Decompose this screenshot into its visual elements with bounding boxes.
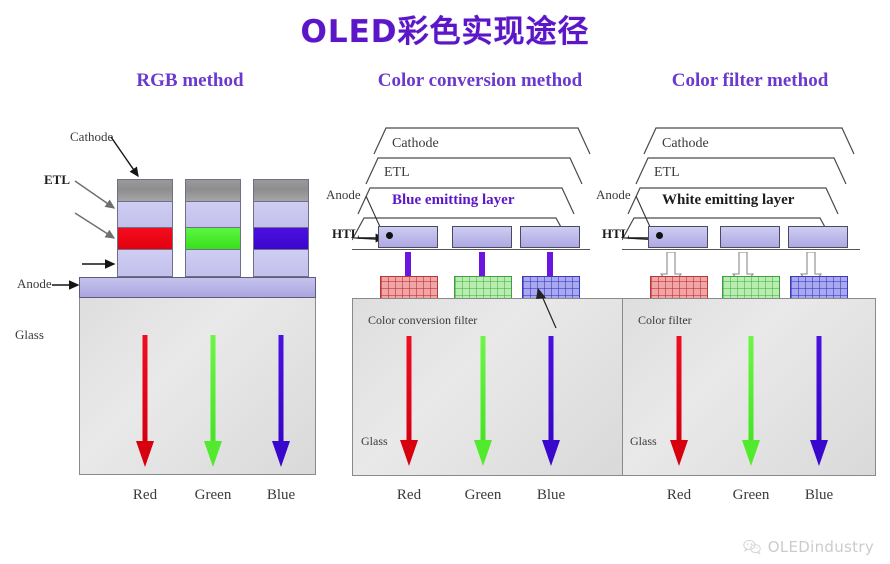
cf-output-label-green: Green [716,487,786,504]
cc-htl-label: HTL [332,226,359,242]
cc-anode-contact-dot [386,232,393,239]
cc-emitting-layer-label: Blue emitting layer [392,192,514,209]
cc-emission-arrow-red [394,336,424,466]
rgb-emission-arrow-blue [266,335,296,467]
rgb-stack-red [117,179,173,277]
rgb-output-label-red: Red [110,487,180,504]
rgb-blue-htl-layer [253,249,309,277]
cc-output-label-red: Red [374,487,444,504]
rgb-green-etl-layer [185,201,241,227]
rgb-red-etl-layer [117,201,173,227]
cf-filter-caption: Color filter [638,313,692,328]
rgb-emission-arrow-red [130,335,160,467]
rgb-blue-emitting-layer [253,227,309,249]
cc-cathode-label: Cathode [392,136,439,152]
cf-cathode-label: Cathode [662,136,709,152]
cf-htl-bar-green [720,226,780,248]
cf-emission-arrow-blue [804,336,834,466]
rgb-etl-label: ETL [44,172,70,188]
rgb-stack-blue [253,179,309,277]
cc-substrate-baseline [352,249,590,250]
watermark: OLEDindustry [743,538,874,556]
cc-emission-arrow-blue [536,336,566,466]
cf-emitting-layer-label: White emitting layer [662,192,794,209]
rgb-glass-label: Glass [15,327,44,343]
rgb-red-cathode-layer [117,179,173,201]
rgb-green-cathode-layer [185,179,241,201]
diagram-canvas: OLED彩色实现途径 RGB method Color conversion m… [0,0,890,564]
cc-output-label-blue: Blue [516,487,586,504]
rgb-stack-green [185,179,241,277]
rgb-anode-label: Anode [17,276,52,292]
cf-etl-label: ETL [654,165,680,181]
rgb-green-emitting-layer [185,227,241,249]
rgb-red-emitting-layer [117,227,173,249]
cf-anode-label: Anode [596,187,631,203]
cc-etl-label: ETL [384,165,410,181]
cc-htl-bar-green [452,226,512,248]
watermark-text: OLEDindustry [768,538,874,556]
cc-output-label-green: Green [448,487,518,504]
cf-substrate-baseline [622,249,860,250]
rgb-blue-cathode-layer [253,179,309,201]
cc-htl-bar-blue [520,226,580,248]
cf-output-label-blue: Blue [784,487,854,504]
panel-heading-color-conversion: Color conversion method [330,70,630,92]
rgb-red-htl-layer [117,249,173,277]
panel-heading-rgb: RGB method [60,70,320,92]
rgb-emission-arrow-green [198,335,228,467]
rgb-output-label-green: Green [178,487,248,504]
cf-htl-bar-blue [788,226,848,248]
cc-anode-label: Anode [326,187,361,203]
cf-htl-label: HTL [602,226,629,242]
cf-output-label-red: Red [644,487,714,504]
panel-heading-color-filter: Color filter method [620,70,880,92]
cf-emission-arrow-red [664,336,694,466]
rgb-cathode-label: Cathode [70,129,113,145]
cf-glass-label: Glass [630,434,657,449]
page-title: OLED彩色实现途径 [0,6,890,51]
rgb-green-htl-layer [185,249,241,277]
rgb-anode-bar [79,277,316,298]
cc-emission-arrow-green [468,336,498,466]
rgb-blue-etl-layer [253,201,309,227]
rgb-output-label-blue: Blue [246,487,316,504]
wechat-icon [743,539,761,555]
cf-anode-contact-dot [656,232,663,239]
cc-filter-caption: Color conversion filter [368,313,477,328]
cf-emission-arrow-green [736,336,766,466]
cc-glass-label: Glass [361,434,388,449]
